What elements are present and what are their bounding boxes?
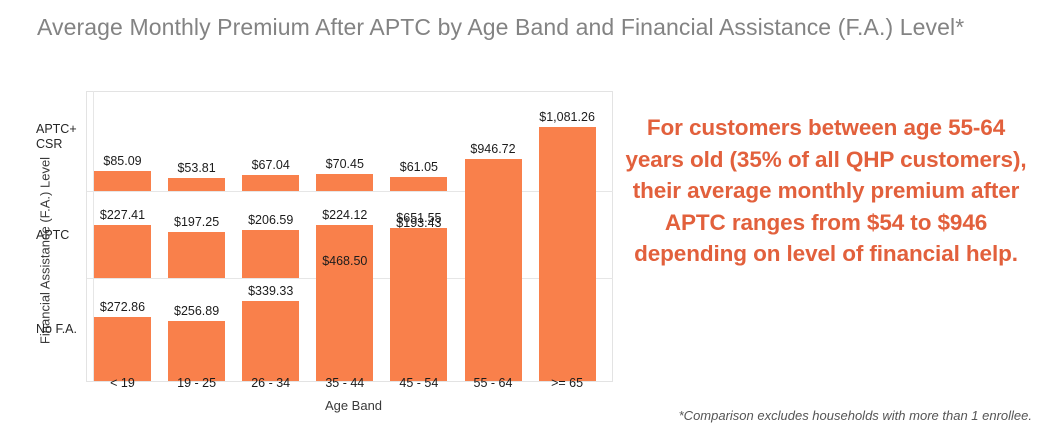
callout-text: For customers between age 55-64 years ol… <box>620 112 1032 270</box>
x-tick-label: >= 65 <box>530 376 605 390</box>
x-tick-label: 55 - 64 <box>456 376 531 390</box>
x-tick-label: 35 - 44 <box>307 376 382 390</box>
x-tick-label: 26 - 34 <box>233 376 308 390</box>
x-tick-label: 19 - 25 <box>159 376 234 390</box>
band-separator-1 <box>87 191 613 192</box>
plot-area <box>86 91 613 382</box>
band-label-no-fa: No F.A. <box>36 322 94 337</box>
page-title: Average Monthly Premium After APTC by Ag… <box>37 11 1037 43</box>
chart-page: Average Monthly Premium After APTC by Ag… <box>0 0 1041 435</box>
band-label-line-2: CSR <box>36 137 94 152</box>
x-tick-label: 45 - 54 <box>381 376 456 390</box>
band-label-aptc-csr: APTC+ CSR <box>36 122 94 152</box>
footnote: *Comparison excludes households with mor… <box>600 408 1032 423</box>
band-label-line-1: APTC+ <box>36 122 94 137</box>
band-separator-2 <box>87 278 613 279</box>
band-label-line-1: APTC <box>36 228 94 243</box>
band-label-line-1: No F.A. <box>36 322 94 337</box>
band-label-aptc: APTC <box>36 228 94 243</box>
x-tick-label: < 19 <box>85 376 160 390</box>
x-axis-title: Age Band <box>94 398 613 413</box>
